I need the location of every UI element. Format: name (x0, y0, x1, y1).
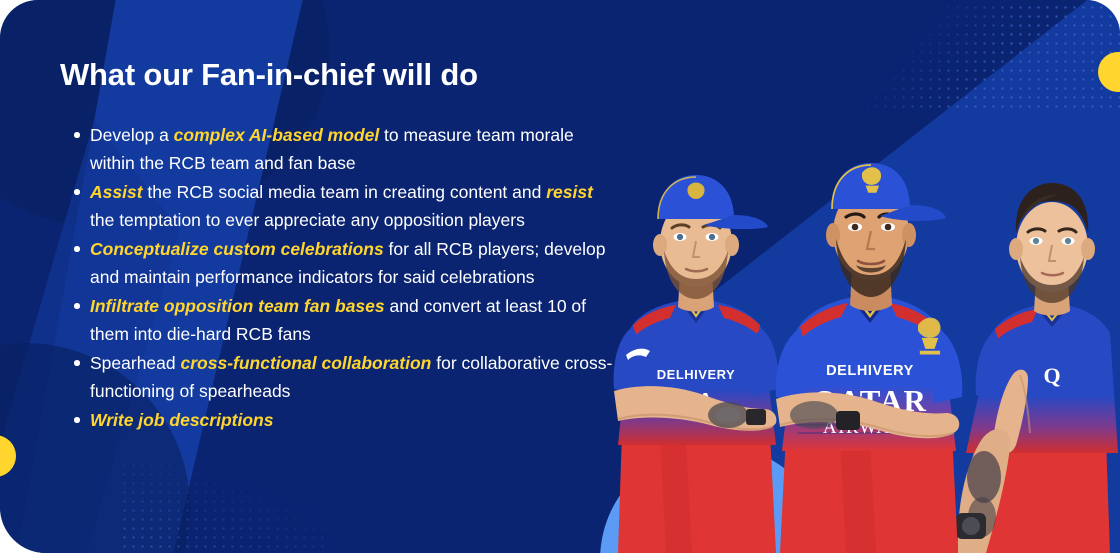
list-item: Develop a complex AI-based model to meas… (60, 121, 620, 177)
content-column: What our Fan-in-chief will do Develop a … (0, 0, 620, 434)
bullet-text: the RCB social media team in creating co… (143, 182, 547, 202)
bullet-text: Develop a (90, 125, 174, 145)
bullet-text: the temptation to ever appreciate any op… (90, 210, 525, 230)
list-item: Spearhead cross-functional collaboration… (60, 349, 620, 405)
highlighted-phrase: resist (546, 182, 593, 202)
yellow-circle-top-right (1098, 52, 1120, 92)
svg-text:DELHIVERY: DELHIVERY (826, 363, 914, 379)
svg-text:Q: Q (1043, 363, 1060, 388)
responsibilities-list: Develop a complex AI-based model to meas… (60, 121, 620, 434)
highlighted-phrase: complex AI-based model (174, 125, 380, 145)
highlighted-phrase: Conceptualize custom celebrations (90, 239, 384, 259)
highlighted-phrase: cross-functional collaboration (181, 353, 432, 373)
list-item: Infiltrate opposition team fan bases and… (60, 292, 620, 348)
highlighted-phrase: Infiltrate opposition team fan bases (90, 296, 385, 316)
slide-root: DELHIVERY QA (0, 0, 1120, 553)
yellow-circle-bottom-left (0, 435, 16, 477)
highlighted-phrase: Assist (90, 182, 143, 202)
highlighted-phrase: Write job descriptions (90, 410, 273, 430)
list-item: Assist the RCB social media team in crea… (60, 178, 620, 234)
players-photo: DELHIVERY QA (600, 133, 1120, 553)
list-item: Conceptualize custom celebrations for al… (60, 235, 620, 291)
svg-text:DELHIVERY: DELHIVERY (657, 367, 735, 382)
dot-pattern-top-right (800, 0, 1120, 114)
list-item: Write job descriptions (60, 406, 620, 434)
dot-pattern-bottom-left (120, 461, 330, 553)
bullet-text: Spearhead (90, 353, 181, 373)
page-title: What our Fan-in-chief will do (60, 56, 620, 93)
